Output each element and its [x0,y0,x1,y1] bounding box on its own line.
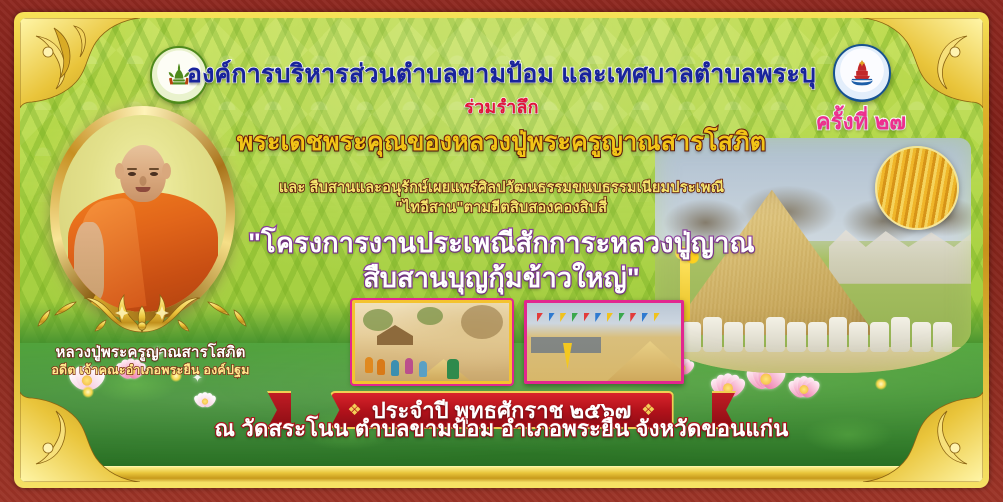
light-glow [875,378,887,390]
mural-image [355,303,509,381]
festival-rice-photo [524,300,684,384]
eyebrow [149,168,159,170]
rice-mound [607,341,684,381]
lotus-flower-icon [192,388,219,406]
person [365,357,373,373]
edition-badge: ครั้งที่ ๒๗ [781,104,941,139]
person [447,359,459,379]
person [377,359,385,375]
banner-inner-area: ✦ ✦ ✦ ✦ ✦ [20,18,983,482]
organizations-title: องค์การบริหารส่วนตำบลขามป้อม และเทศบาลตำ… [20,54,983,94]
tree [363,309,393,331]
tree [461,305,503,339]
tree [417,307,443,325]
gold-bottom-bar [20,466,983,482]
project-title-line-2: สืบสานบุญกุ้มข้าวใหญ่" [20,256,983,299]
venue-line: ณ วัดสระโนน ตำบลขามป้อม อำเภอพระยืน จังห… [20,411,983,446]
person [405,358,413,374]
festival-image [527,303,681,381]
light-glow [82,386,94,398]
event-banner: ✦ ✦ ✦ ✦ ✦ [0,0,1003,502]
portrait-role: อดีต เจ้าคณะอำเภอพระยืน องค์ปฐม [28,360,273,380]
gold-outer-frame: ✦ ✦ ✦ ✦ ✦ [14,12,989,488]
yellow-flag [563,343,572,369]
eyebrow [127,168,137,170]
person [391,360,399,376]
person [419,361,427,377]
flag-bunting [531,313,677,327]
purpose-line-2: "ไทอีสาน"ตามฮีตสิบสองคองสิบสี่ [20,196,983,219]
lotus-flower-icon [785,370,823,396]
mural-village-photo [352,300,512,384]
